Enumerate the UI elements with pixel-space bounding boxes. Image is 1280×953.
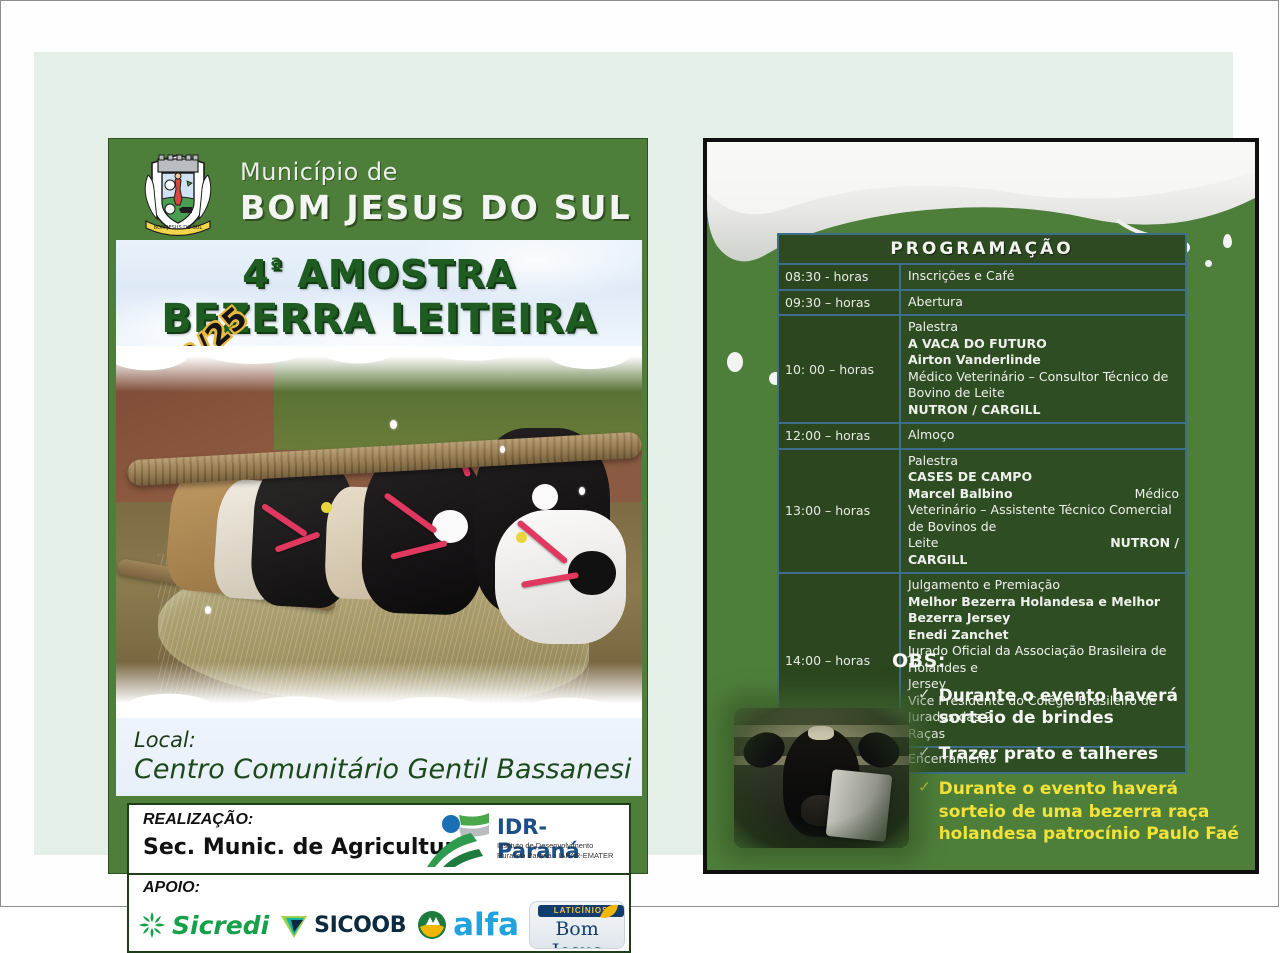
idr-subtitle-line1: Instituto de Desenvolvimento <box>497 841 593 850</box>
milk-splash-bottom <box>116 662 642 718</box>
program-row-description: Abertura <box>901 291 1185 315</box>
program-row-time: 13:00 – horas <box>779 450 901 573</box>
sponsors-box: REALIZAÇÃO: Sec. Munic. de Agricultura I… <box>127 803 631 953</box>
poster-page: BOM JESUS DO SUL Município de BOM JESUS … <box>0 0 1280 908</box>
municipality-name: BOM JESUS DO SUL <box>240 188 632 227</box>
program-row-description: Inscrições e Café <box>901 265 1185 289</box>
check-icon: ✓ <box>918 778 931 845</box>
idr-subtitle: Instituto de Desenvolvimento Rural do Pa… <box>497 841 613 861</box>
program-line: NUTRON / CARGILL <box>908 402 1179 419</box>
program-line: Julgamento e Premiação <box>908 577 1179 594</box>
observation-item: ✓Durante o evento haverá sorteio de uma … <box>918 778 1242 845</box>
coat-of-arms-icon: BOM JESUS DO SUL <box>132 149 224 239</box>
bom-jesus-wordmark: Bom Jesus <box>530 918 624 949</box>
program-line: LeiteNUTRON / <box>908 535 1179 552</box>
leaf-icon <box>598 903 620 919</box>
ordinal-mark: ª <box>270 254 283 279</box>
program-row-time: 10: 00 – horas <box>779 316 901 422</box>
program-row: 10: 00 – horasPalestraA VACA DO FUTUROAi… <box>779 316 1185 424</box>
municipality-header: BOM JESUS DO SUL Município de BOM JESUS … <box>116 146 642 240</box>
program-line: Veterinário – Assistente Técnico Comerci… <box>908 502 1179 535</box>
program-row-description: Almoço <box>901 424 1185 448</box>
observations-list: ✓Durante o evento haverá sorteio de brin… <box>892 685 1242 846</box>
left-poster-panel: BOM JESUS DO SUL Município de BOM JESUS … <box>108 138 648 874</box>
program-line: Enedi Zanchet <box>908 627 1179 644</box>
milk-splash-dot <box>1223 234 1232 248</box>
sponsor-logo-alfa: alfa <box>416 907 519 943</box>
program-line-left: Leite <box>908 535 939 552</box>
sponsor-logo-sicredi: Sicredi <box>137 910 269 940</box>
sponsor-logo-bom-jesus: LATICÍNIOS Bom Jesus <box>529 901 625 949</box>
milk-splash-dot <box>1205 260 1212 267</box>
program-row: 13:00 – horasPalestraCASES DE CAMPOMarce… <box>779 450 1185 575</box>
program-row-description: PalestraA VACA DO FUTUROAirton Vanderlin… <box>901 316 1185 422</box>
check-icon: ✓ <box>918 743 931 765</box>
program-line-right: NUTRON / <box>1110 535 1179 552</box>
realizacao-row: REALIZAÇÃO: Sec. Munic. de Agricultura I… <box>129 805 629 875</box>
idr-parana-logo: IDR-Paraná Instituto de Desenvolvimento … <box>425 809 621 869</box>
alfa-wordmark: alfa <box>453 907 519 943</box>
program-row-description: PalestraCASES DE CAMPOMarcel BalbinoMédi… <box>901 450 1185 573</box>
program-line: Melhor Bezerra Holandesa e Melhor Bezerr… <box>908 594 1179 627</box>
alfa-mark-icon <box>416 909 448 941</box>
observation-item: ✓Durante o evento haverá sorteio de brin… <box>918 685 1242 730</box>
realizacao-value: Sec. Munic. de Agricultura <box>143 835 470 860</box>
poster-canvas: BOM JESUS DO SUL Município de BOM JESUS … <box>34 52 1233 855</box>
apoio-label: APOIO: <box>143 879 200 897</box>
program-row: 12:00 – horasAlmoço <box>779 424 1185 450</box>
event-title-line1: 4ª AMOSTRA <box>116 252 642 296</box>
svg-text:BOM JESUS DO SUL: BOM JESUS DO SUL <box>154 225 203 231</box>
sicredi-mark-icon <box>137 910 167 940</box>
program-row: 08:30 - horasInscrições e Café <box>779 265 1185 291</box>
observation-text: Trazer prato e talheres <box>939 743 1159 765</box>
calf-photo <box>734 708 909 848</box>
observation-text: Durante o evento haverá sorteio de uma b… <box>939 778 1242 845</box>
realizacao-label: REALIZAÇÃO: <box>143 811 253 829</box>
photo-vignette <box>734 708 909 848</box>
event-title-line1-rest: AMOSTRA <box>283 252 516 296</box>
program-line: Palestra <box>908 453 1179 470</box>
program-line-left: Marcel Balbino <box>908 486 1013 503</box>
program-line: Almoço <box>908 427 1179 444</box>
idr-subtitle-line2: Rural do Paraná - IAPAR-EMATER <box>497 851 613 860</box>
observation-text: Durante o evento haverá sorteio de brind… <box>939 685 1242 730</box>
right-program-panel: PROGRAMAÇÃO 08:30 - horasInscrições e Ca… <box>703 138 1259 874</box>
municipality-prefix: Município de <box>240 158 398 186</box>
edition-number: 4 <box>242 252 269 296</box>
program-line: Médico Veterinário – Consultor Técnico d… <box>908 369 1179 402</box>
program-line: Marcel BalbinoMédico <box>908 486 1179 503</box>
calf-spot-2 <box>532 484 558 510</box>
sicoob-mark-icon <box>279 910 309 940</box>
program-line: CARGILL <box>908 552 1179 569</box>
program-line: Abertura <box>908 294 1179 311</box>
program-row-time: 09:30 – horas <box>779 291 901 315</box>
venue-band: Local: Centro Comunitário Gentil Bassane… <box>116 718 642 796</box>
program-row-time: 12:00 – horas <box>779 424 901 448</box>
event-title-band: 4ª AMOSTRA BEZERRA LEITEIRA 02/12/25 <box>116 240 642 346</box>
program-line: Inscrições e Café <box>908 268 1179 285</box>
program-row-time: 08:30 - horas <box>779 265 901 289</box>
apoio-row: APOIO: <box>129 875 629 953</box>
observations-block: OBS: ✓Durante o evento haverá sorteio de… <box>892 650 1242 846</box>
calves-photo <box>116 346 642 718</box>
program-line-right: Médico <box>1135 486 1179 503</box>
venue-label: Local: <box>134 728 196 752</box>
milk-splash-dot <box>727 352 743 372</box>
venue-name: Centro Comunitário Gentil Bassanesi <box>134 754 631 785</box>
check-icon: ✓ <box>918 685 931 730</box>
program-row: 09:30 – horasAbertura <box>779 291 1185 317</box>
apoio-logos: Sicredi SICOOB <box>137 901 625 949</box>
observations-title: OBS: <box>892 650 1242 672</box>
program-line: Palestra <box>908 319 1179 336</box>
ear-tag <box>516 532 527 543</box>
milk-droplet <box>390 420 397 429</box>
program-line: Airton Vanderlinde <box>908 352 1179 369</box>
observation-item: ✓Trazer prato e talheres <box>918 743 1242 765</box>
sicoob-wordmark: SICOOB <box>314 913 406 938</box>
program-line: CASES DE CAMPO <box>908 469 1179 486</box>
sponsor-logo-sicoob: SICOOB <box>279 910 406 940</box>
program-line: A VACA DO FUTURO <box>908 336 1179 353</box>
program-table-heading: PROGRAMAÇÃO <box>779 235 1185 265</box>
sicredi-wordmark: Sicredi <box>172 911 269 940</box>
milk-splash-top <box>116 346 642 392</box>
